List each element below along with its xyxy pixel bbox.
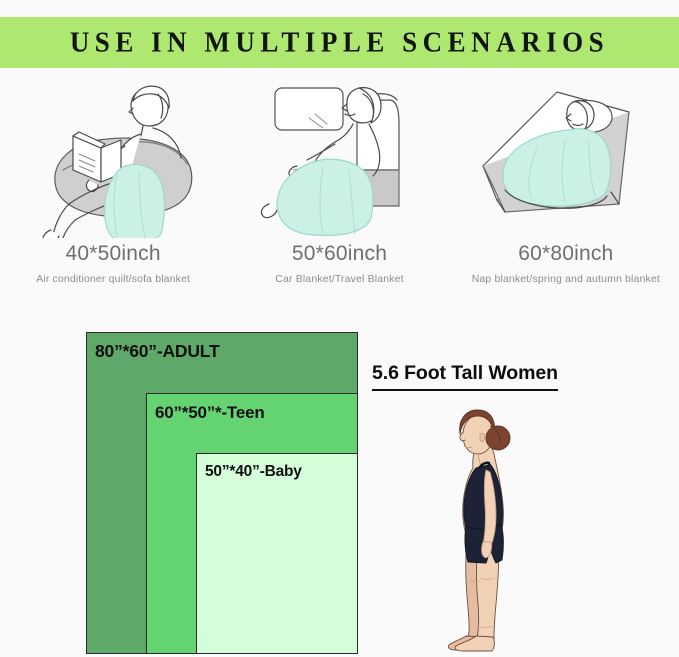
scenario-description: Car Blanket/Travel Blanket	[275, 273, 403, 285]
scenario-description: Air conditioner quilt/sofa blanket	[36, 273, 190, 285]
scenario-item-bed: 60*80inch Nap blanket/spring and autumn …	[453, 70, 679, 300]
person-sleeping-in-bed-icon	[461, 70, 671, 238]
infographic-page: USE IN MULTIPLE SCENARIOS	[0, 0, 679, 650]
size-label-adult: 80”*60”-ADULT	[95, 341, 219, 362]
header-banner: USE IN MULTIPLE SCENARIOS	[0, 17, 679, 68]
scene-art-beanbag	[0, 70, 226, 238]
page-title: USE IN MULTIPLE SCENARIOS	[70, 26, 609, 59]
size-rect-baby	[196, 453, 358, 654]
scene-art-bed	[453, 70, 679, 238]
scenario-size-label: 40*50inch	[66, 242, 161, 266]
person-reclining-in-travel-seat-icon	[239, 70, 439, 238]
size-label-baby: 50”*40”-Baby	[205, 463, 302, 481]
scenario-row: 40*50inch Air conditioner quilt/sofa bla…	[0, 70, 679, 300]
size-label-teen: 60”*50”*-Teen	[155, 403, 265, 423]
reference-figure-block: 5.6 Foot Tall Women	[372, 362, 672, 650]
scenario-item-beanbag: 40*50inch Air conditioner quilt/sofa bla…	[0, 70, 226, 300]
scenario-size-label: 60*80inch	[518, 242, 613, 266]
reference-figure-title: 5.6 Foot Tall Women	[372, 362, 558, 391]
scenario-description: Nap blanket/spring and autumn blanket	[472, 273, 660, 285]
scenario-item-travel: 50*60inch Car Blanket/Travel Blanket	[226, 70, 452, 300]
reference-figure-art	[416, 402, 544, 657]
standing-woman-side-profile-icon	[416, 402, 544, 652]
scene-art-travel	[226, 70, 452, 238]
scenario-size-label: 50*60inch	[292, 242, 387, 266]
person-reading-on-beanbag-icon	[13, 70, 213, 238]
